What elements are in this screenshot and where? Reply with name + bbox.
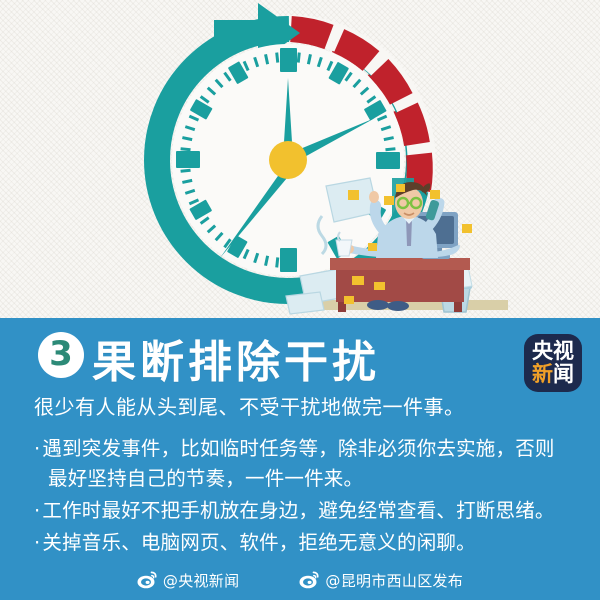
bullet-text-3: 关掉音乐、电脑网页、软件，拒绝无意义的闲聊。 (42, 531, 475, 554)
clock-center-hub (269, 141, 307, 179)
logo-wen-char: 闻 (553, 364, 574, 385)
logo-line-two: 新 闻 (532, 364, 574, 385)
footer-attribution: @央视新闻 @昆明市西山区发布 (0, 566, 600, 594)
step-number-badge: 3 (38, 332, 84, 378)
desk-front (336, 270, 464, 302)
bullet-marker-1: · (34, 437, 40, 460)
page-title: 果断排除干扰 (92, 326, 380, 390)
lead-paragraph: 很少有人能从头到尾、不受干扰地做完一件事。 (34, 392, 574, 422)
bullet-text-1: 遇到突发事件，比如临时任务等，除非必须你去实施，否则最好坚持自己的节奏，一件一件… (42, 437, 554, 490)
blue-content-banner: 3 果断排除干扰 央视 新 闻 很少有人能从头到尾、不受干扰地做完一件事。 ·遇… (0, 318, 600, 600)
logo-xin-char: 新 (532, 364, 553, 385)
illustration-area (0, 0, 600, 318)
shoe-left (367, 300, 389, 310)
poster: 3 果断排除干扰 央视 新 闻 很少有人能从头到尾、不受干扰地做完一件事。 ·遇… (0, 0, 600, 600)
desk-top (330, 258, 470, 270)
bullet-item-3: ·关掉音乐、电脑网页、软件，拒绝无意义的闲聊。 (34, 528, 574, 558)
weibo-handle-kunming-text: @昆明市西山区发布 (325, 570, 463, 591)
clock-illustration (0, 0, 600, 318)
weibo-icon (299, 571, 319, 589)
weibo-handle-cctv-text: @央视新闻 (163, 570, 240, 591)
cctv-news-logo: 央视 新 闻 (524, 334, 582, 392)
bullet-text-2: 工作时最好不把手机放在身边，避免经常查看、打断思绪。 (42, 499, 554, 522)
weibo-icon (137, 571, 157, 589)
weibo-handle-kunming[interactable]: @昆明市西山区发布 (299, 570, 463, 591)
shoe-right (387, 301, 409, 311)
body-copy: 很少有人能从头到尾、不受干扰地做完一件事。 ·遇到突发事件，比如临时任务等，除非… (34, 392, 574, 560)
logo-line-one: 央视 (532, 341, 574, 362)
bullet-item-2: ·工作时最好不把手机放在身边，避免经常查看、打断思绪。 (34, 496, 574, 526)
bullet-item-1: ·遇到突发事件，比如临时任务等，除非必须你去实施，否则最好坚持自己的节奏，一件一… (34, 434, 574, 494)
bullet-marker-2: · (34, 499, 40, 522)
step-number: 3 (49, 337, 73, 371)
weibo-handle-cctv[interactable]: @央视新闻 (137, 570, 240, 591)
bullet-marker-3: · (34, 531, 40, 554)
headline-row: 3 果断排除干扰 央视 新 闻 (0, 324, 600, 386)
